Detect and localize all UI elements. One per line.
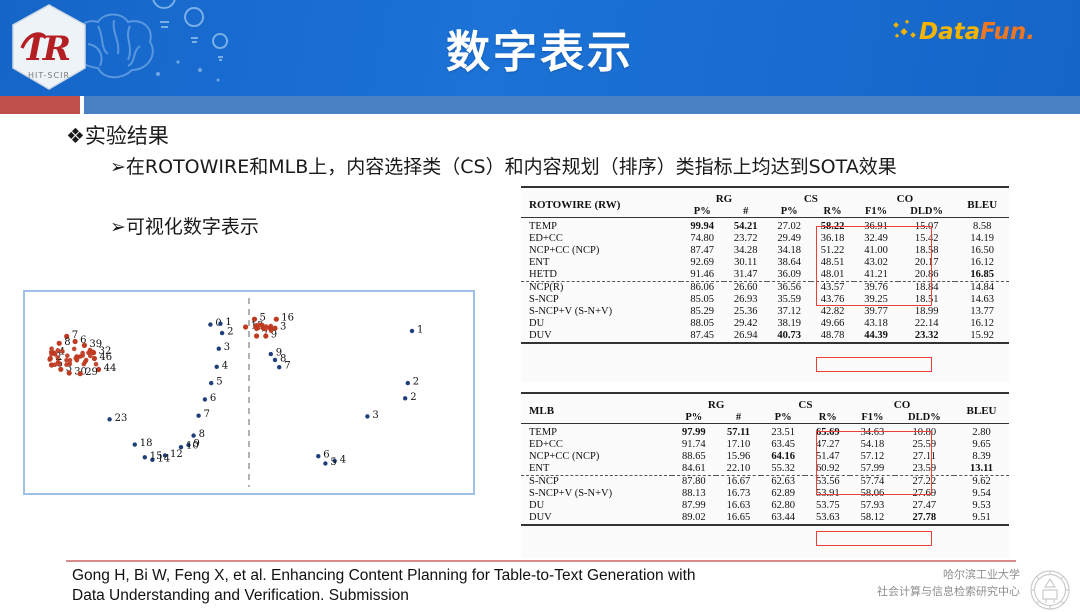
subheader-4: F1% — [850, 411, 895, 424]
point-label: 5 — [330, 457, 336, 468]
data-point — [80, 353, 85, 358]
cell: 16.50 — [955, 245, 1009, 257]
cell: 57.99 — [850, 463, 895, 476]
row-label: ENT — [521, 257, 681, 269]
cell: 25.59 — [895, 439, 954, 451]
cell: 15.07 — [898, 221, 956, 233]
group-header-rg: RG — [672, 398, 761, 411]
cell: 8.39 — [954, 451, 1009, 463]
cell: 84.61 — [672, 463, 717, 476]
cell: 27.22 — [895, 475, 954, 488]
cell: 27.11 — [895, 451, 954, 463]
cell: 58.06 — [850, 488, 895, 500]
footer-divider — [66, 560, 1016, 562]
row-label: S-NCP — [521, 475, 672, 488]
data-point — [217, 347, 221, 351]
cell: 13.11 — [954, 463, 1009, 476]
table-row: TEMP97.9957.1123.5165.6934.6310.802.80 — [521, 427, 1009, 439]
cell: 57.74 — [850, 475, 895, 488]
data-point — [65, 353, 70, 358]
datafun-logo-icon: Data Fun. — [892, 14, 1062, 48]
data-point — [74, 354, 79, 359]
cell: 53.56 — [805, 475, 850, 488]
row-label: DUV — [521, 512, 672, 525]
cell: 43.18 — [854, 318, 897, 330]
data-point — [78, 371, 83, 376]
table-corpus-name: ROTOWIRE (RW) — [521, 192, 681, 218]
slide-header: IR HIT-SCIR 数字表示 Data Fun. — [0, 0, 1080, 96]
data-point — [47, 357, 52, 362]
cell: 16.63 — [716, 500, 761, 512]
table-row: S-NCP85.0526.9335.5943.7639.2518.5114.63 — [521, 294, 1009, 306]
point-label: 23 — [115, 413, 128, 424]
table-row: S-NCP87.8016.6762.6353.5657.7427.229.62 — [521, 475, 1009, 488]
bullet-visualization: ➢可视化数字表示 — [110, 212, 259, 239]
data-point — [57, 361, 62, 366]
point-label: 7 — [284, 361, 290, 372]
cell: 26.94 — [724, 330, 767, 343]
cell: 8.58 — [955, 221, 1009, 233]
cell: 14.19 — [955, 233, 1009, 245]
row-label: S-NCP+V (S-N+V) — [521, 488, 672, 500]
cell: 91.46 — [681, 269, 724, 282]
citation-line-2: Data Understanding and Verification. Sub… — [72, 586, 812, 606]
data-point — [94, 362, 99, 367]
data-point — [273, 358, 277, 362]
data-point — [277, 365, 281, 369]
cell: 34.18 — [767, 245, 810, 257]
row-label: NCP+CC (NCP) — [521, 451, 672, 463]
table-row: HETD91.4631.4736.0948.0141.2120.8616.85 — [521, 269, 1009, 282]
subheader-5: DLD% — [895, 411, 954, 424]
cell: 18.51 — [898, 294, 956, 306]
cell: 51.47 — [805, 451, 850, 463]
table-row: NCP+CC (NCP)88.6515.9664.1651.4757.1227.… — [521, 451, 1009, 463]
cell: 64.16 — [761, 451, 806, 463]
highlight-box-rw-bottom — [816, 357, 932, 372]
cell: 32.49 — [854, 233, 897, 245]
cell: 26.93 — [724, 294, 767, 306]
cell: 18.84 — [898, 281, 956, 294]
cell: 54.18 — [850, 439, 895, 451]
cell: 41.00 — [854, 245, 897, 257]
cell: 15.96 — [716, 451, 761, 463]
cell: 20.17 — [898, 257, 956, 269]
subheader-5: DLD% — [898, 205, 956, 218]
data-point — [53, 362, 58, 367]
group-header-cs: CS — [767, 192, 854, 205]
table-row: NCP(R)86.0626.6036.5643.5739.7618.8414.8… — [521, 281, 1009, 294]
data-point — [58, 367, 63, 372]
data-point — [269, 352, 273, 356]
cell: 49.66 — [811, 318, 854, 330]
group-header-rg: RG — [681, 192, 768, 205]
header-accent-bar-blue — [84, 96, 1080, 114]
cell: 63.45 — [761, 439, 806, 451]
data-point — [220, 331, 224, 335]
cell: 87.99 — [672, 500, 717, 512]
data-point — [410, 329, 414, 333]
data-point — [67, 370, 72, 375]
cell: 39.76 — [854, 281, 897, 294]
table-row: ENT92.6930.1138.6448.5143.0220.1716.12 — [521, 257, 1009, 269]
cell: 87.80 — [672, 475, 717, 488]
cell: 53.63 — [805, 512, 850, 525]
cell: 15.92 — [955, 330, 1009, 343]
subheader-2: P% — [761, 411, 806, 424]
cell: 54.21 — [724, 221, 767, 233]
point-label: 6 — [210, 393, 216, 404]
row-label: S-NCP+V (S-N+V) — [521, 306, 681, 318]
row-label: DU — [521, 318, 681, 330]
cell: 23.72 — [724, 233, 767, 245]
data-point — [316, 454, 320, 458]
cell: 48.51 — [811, 257, 854, 269]
data-point — [365, 414, 369, 418]
point-label: 3 — [280, 322, 286, 333]
cell: 36.18 — [811, 233, 854, 245]
group-header-co: CO — [850, 398, 954, 411]
row-label: ENT — [521, 463, 672, 476]
bullet-sota-description: ➢在ROTOWIRE和MLB上，内容选择类（CS）和内容规划（排序）类指标上均达… — [110, 152, 897, 179]
cell: 30.11 — [724, 257, 767, 269]
data-point — [196, 414, 200, 418]
table-row: S-NCP+V (S-N+V)88.1316.7362.8953.9158.06… — [521, 488, 1009, 500]
cell: 9.53 — [954, 500, 1009, 512]
number-representation-scatter-chart: 7863943224653443029516133790123456789101… — [25, 292, 473, 493]
bullet-experiment-results: ❖实验结果 — [66, 120, 169, 150]
point-label: 18 — [140, 438, 153, 449]
data-point — [49, 350, 54, 355]
point-label: 4 — [340, 454, 346, 465]
cell: 35.59 — [767, 294, 810, 306]
data-point — [203, 397, 207, 401]
data-point — [218, 322, 222, 326]
data-point — [73, 339, 78, 344]
table-row: DUV89.0216.6563.4453.6358.1227.789.51 — [521, 512, 1009, 525]
point-label: 4 — [222, 360, 228, 371]
cell: 47.27 — [805, 439, 850, 451]
cell: 34.63 — [850, 427, 895, 439]
cell: 23.32 — [898, 330, 956, 343]
table-row: DU88.0529.4238.1949.6643.1822.1416.12 — [521, 318, 1009, 330]
cell: 9.54 — [954, 488, 1009, 500]
cell: 43.57 — [811, 281, 854, 294]
cell: 51.22 — [811, 245, 854, 257]
table-row: S-NCP+V (S-N+V)85.2925.3637.1242.8239.77… — [521, 306, 1009, 318]
cell: 22.14 — [898, 318, 956, 330]
data-point — [72, 347, 77, 352]
data-point — [55, 355, 60, 360]
svg-text:Data: Data — [919, 19, 980, 45]
cell: 62.80 — [761, 500, 806, 512]
cell: 38.19 — [767, 318, 810, 330]
cell: 36.56 — [767, 281, 810, 294]
data-point — [56, 348, 61, 353]
highlight-box-mlb-bottom — [816, 531, 932, 546]
cell: 20.86 — [898, 269, 956, 282]
point-label: 3 — [372, 410, 378, 421]
subheader-0: P% — [681, 205, 724, 218]
data-point — [209, 381, 213, 385]
row-label: DUV — [521, 330, 681, 343]
group-header-cs: CS — [761, 398, 850, 411]
row-label: DU — [521, 500, 672, 512]
data-point — [143, 455, 147, 459]
cell: 88.05 — [681, 318, 724, 330]
data-point — [68, 362, 73, 367]
cell: 10.80 — [895, 427, 954, 439]
cell: 16.73 — [716, 488, 761, 500]
group-header-co: CO — [854, 192, 955, 205]
point-label: 2 — [413, 377, 419, 388]
point-label: 2 — [227, 327, 233, 338]
cell: 58.22 — [811, 221, 854, 233]
cell: 42.82 — [811, 306, 854, 318]
results-table-mlb: MLBRGCSCOBLEUP%#P%R%F1%DLD%TEMP97.9957.1… — [521, 392, 1009, 558]
point-label: 46 — [99, 352, 112, 363]
organization-text: 哈尔滨工业大学 社会计算与信息检索研究中心 — [877, 567, 1020, 600]
hit-seal-icon — [1028, 568, 1072, 612]
cell: 37.12 — [767, 306, 810, 318]
point-label: 7 — [204, 409, 210, 420]
table-row: DUV87.4526.9440.7348.7844.3923.3215.92 — [521, 330, 1009, 343]
data-point — [57, 341, 62, 346]
cell: 16.85 — [955, 269, 1009, 282]
citation-line-1: Gong H, Bi W, Feng X, et al. Enhancing C… — [72, 566, 812, 586]
cell: 23.51 — [761, 427, 806, 439]
point-label: 29 — [85, 367, 98, 378]
cell: 48.01 — [811, 269, 854, 282]
cell: 60.92 — [805, 463, 850, 476]
cell: 55.32 — [761, 463, 806, 476]
cell: 26.60 — [724, 281, 767, 294]
cell: 89.02 — [672, 512, 717, 525]
cell: 53.75 — [805, 500, 850, 512]
table-mlb: MLBRGCSCOBLEUP%#P%R%F1%DLD%TEMP97.9957.1… — [521, 392, 1009, 530]
cell: 18.58 — [898, 245, 956, 257]
table-row: NCP+CC (NCP)87.4734.2834.1851.2241.0018.… — [521, 245, 1009, 257]
cell: 57.11 — [716, 427, 761, 439]
row-label: TEMP — [521, 221, 681, 233]
data-point — [133, 442, 137, 446]
group-header-bleu: BLEU — [954, 398, 1009, 424]
cell: 53.91 — [805, 488, 850, 500]
cell: 39.77 — [854, 306, 897, 318]
cell: 44.39 — [854, 330, 897, 343]
subheader-0: P% — [672, 411, 717, 424]
subheader-1: # — [716, 411, 761, 424]
org-line-2: 社会计算与信息检索研究中心 — [877, 584, 1020, 601]
cell: 27.78 — [895, 512, 954, 525]
cell: 36.91 — [854, 221, 897, 233]
svg-text:Fun.: Fun. — [980, 19, 1035, 45]
cell: 62.89 — [761, 488, 806, 500]
cell: 23.59 — [895, 463, 954, 476]
table-row: ENT84.6122.1055.3260.9257.9923.5913.11 — [521, 463, 1009, 476]
data-point — [269, 327, 274, 332]
cell: 13.77 — [955, 306, 1009, 318]
row-label: ED+CC — [521, 233, 681, 245]
cell: 86.06 — [681, 281, 724, 294]
cell: 29.49 — [767, 233, 810, 245]
data-point — [215, 365, 219, 369]
table-rotowire: ROTOWIRE (RW)RGCSCOBLEUP%#P%R%F1%DLD%TEM… — [521, 186, 1009, 348]
cell: 87.45 — [681, 330, 724, 343]
data-point — [83, 360, 88, 365]
cell: 40.73 — [767, 330, 810, 343]
cell: 74.80 — [681, 233, 724, 245]
cell: 9.62 — [954, 475, 1009, 488]
cell: 14.84 — [955, 281, 1009, 294]
cell: 15.42 — [898, 233, 956, 245]
header-bar-gap — [80, 96, 84, 114]
cell: 36.09 — [767, 269, 810, 282]
data-point — [208, 322, 212, 326]
results-table-rotowire: ROTOWIRE (RW)RGCSCOBLEUP%#P%R%F1%DLD%TEM… — [521, 186, 1009, 382]
org-line-1: 哈尔滨工业大学 — [877, 567, 1020, 584]
row-label: TEMP — [521, 427, 672, 439]
table-row: ED+CC74.8023.7229.4936.1832.4915.4214.19 — [521, 233, 1009, 245]
cell: 48.78 — [811, 330, 854, 343]
data-point — [274, 317, 279, 322]
data-point — [82, 343, 87, 348]
cell: 17.10 — [716, 439, 761, 451]
group-header-bleu: BLEU — [955, 192, 1009, 218]
cell: 87.47 — [681, 245, 724, 257]
row-label: NCP(R) — [521, 281, 681, 294]
row-label: S-NCP — [521, 294, 681, 306]
cell: 18.99 — [898, 306, 956, 318]
point-label: 6 — [323, 450, 329, 461]
cell: 2.80 — [954, 427, 1009, 439]
subheader-3: R% — [805, 411, 850, 424]
data-point — [403, 396, 407, 400]
point-label: 44 — [104, 363, 117, 374]
data-point — [254, 333, 259, 338]
cell: 88.65 — [672, 451, 717, 463]
cell: 16.12 — [955, 257, 1009, 269]
data-point — [191, 433, 195, 437]
subheader-2: P% — [767, 205, 810, 218]
point-label: 3 — [224, 342, 230, 353]
subheader-3: R% — [811, 205, 854, 218]
cell: 99.94 — [681, 221, 724, 233]
cell: 85.29 — [681, 306, 724, 318]
cell: 43.76 — [811, 294, 854, 306]
cell: 16.67 — [716, 475, 761, 488]
table-corpus-name: MLB — [521, 398, 672, 424]
point-label: 1 — [417, 325, 423, 336]
header-accent-bar-red — [0, 96, 80, 114]
cell: 29.42 — [724, 318, 767, 330]
cell: 25.36 — [724, 306, 767, 318]
cell: 92.69 — [681, 257, 724, 269]
data-point — [92, 356, 97, 361]
cell: 43.02 — [854, 257, 897, 269]
point-label: 2 — [410, 392, 416, 403]
cell: 39.25 — [854, 294, 897, 306]
cell: 27.47 — [895, 500, 954, 512]
cell: 58.12 — [850, 512, 895, 525]
cell: 85.05 — [681, 294, 724, 306]
cell: 16.65 — [716, 512, 761, 525]
cell: 9.51 — [954, 512, 1009, 525]
row-label: NCP+CC (NCP) — [521, 245, 681, 257]
cell: 88.13 — [672, 488, 717, 500]
data-point — [323, 461, 327, 465]
cell: 63.44 — [761, 512, 806, 525]
cell: 62.63 — [761, 475, 806, 488]
point-label: 12 — [170, 449, 183, 460]
data-point — [263, 333, 268, 338]
point-label: 8 — [64, 337, 70, 348]
cell: 34.28 — [724, 245, 767, 257]
cell: 22.10 — [716, 463, 761, 476]
data-point — [88, 354, 93, 359]
cell: 57.93 — [850, 500, 895, 512]
subheader-4: F1% — [854, 205, 897, 218]
cell: 97.99 — [672, 427, 717, 439]
cell: 91.74 — [672, 439, 717, 451]
data-point — [406, 381, 410, 385]
table-row: TEMP99.9454.2127.0258.2236.9115.078.58 — [521, 221, 1009, 233]
cell: 38.64 — [767, 257, 810, 269]
data-point — [107, 417, 111, 421]
subheader-1: # — [724, 205, 767, 218]
point-label: 5 — [216, 377, 222, 388]
cell: 31.47 — [724, 269, 767, 282]
data-point — [260, 324, 265, 329]
cell: 41.21 — [854, 269, 897, 282]
cell: 27.02 — [767, 221, 810, 233]
cell: 65.69 — [805, 427, 850, 439]
cell: 14.63 — [955, 294, 1009, 306]
cell: 27.69 — [895, 488, 954, 500]
data-point — [60, 349, 65, 354]
table-row: ED+CC91.7417.1063.4547.2754.1825.599.65 — [521, 439, 1009, 451]
point-label: 15 — [150, 451, 163, 462]
row-label: HETD — [521, 269, 681, 282]
citation-text: Gong H, Bi W, Feng X, et al. Enhancing C… — [72, 566, 812, 607]
point-label: 10 — [186, 441, 199, 452]
cell: 9.65 — [954, 439, 1009, 451]
data-point — [243, 324, 248, 329]
row-label: ED+CC — [521, 439, 672, 451]
slide: IR HIT-SCIR 数字表示 Data Fun. ❖实验结果 ➢在ROTOW… — [0, 0, 1080, 611]
table-row: DU87.9916.6362.8053.7557.9327.479.53 — [521, 500, 1009, 512]
cell: 16.12 — [955, 318, 1009, 330]
cell: 57.12 — [850, 451, 895, 463]
scatter-plot-panel: 7863943224653443029516133790123456789101… — [23, 290, 475, 495]
